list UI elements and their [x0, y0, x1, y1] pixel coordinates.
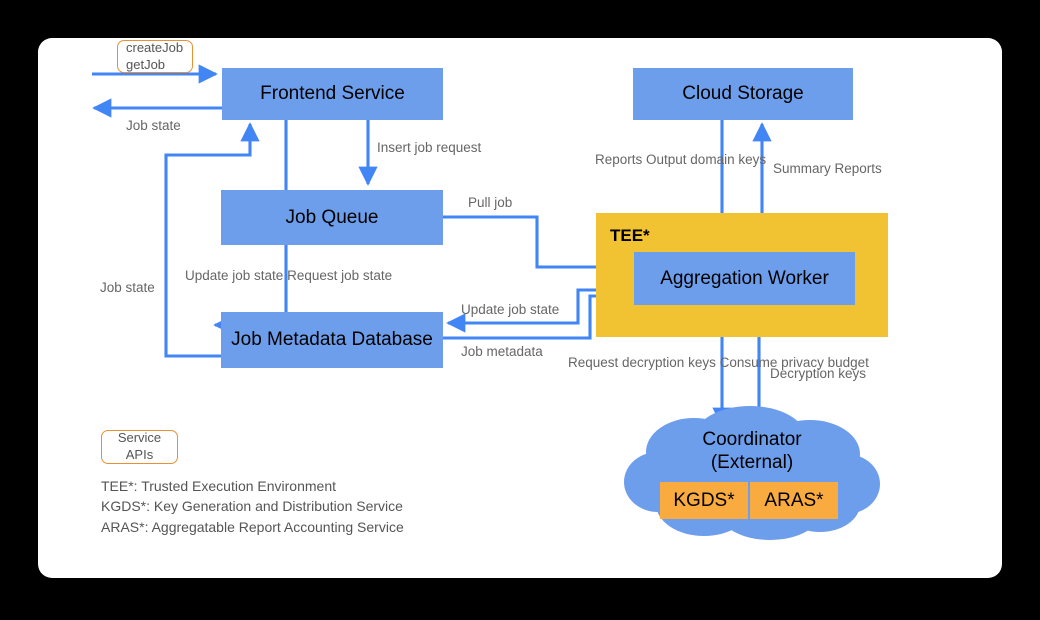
node-aras[interactable]: ARAS* — [750, 482, 838, 519]
label-job-state-out: Job state — [126, 117, 181, 135]
label-pull-job: Pull job — [468, 194, 512, 212]
legend-footnotes: TEE*: Trusted Execution Environment KGDS… — [101, 476, 404, 537]
tee-region-label: TEE* — [610, 226, 650, 246]
node-kgds-label: KGDS* — [673, 490, 734, 512]
label-update-request-job-state: Update job state Request job state — [185, 267, 392, 285]
node-aggregation-worker-label: Aggregation Worker — [660, 268, 829, 290]
label-summary-reports: Summary Reports — [773, 160, 882, 178]
label-job-state-left: Job state — [100, 279, 155, 297]
label-reports-output-domain-keys: Reports Output domain keys — [595, 151, 766, 169]
node-job-queue-label: Job Queue — [286, 207, 379, 229]
node-coordinator-label: Coordinator (External) — [622, 428, 882, 474]
label-update-job-state: Update job state — [461, 301, 559, 319]
label-insert-job-request: Insert job request — [377, 139, 481, 157]
label-job-metadata: Job metadata — [461, 343, 543, 361]
legend-service-apis-chip: Service APIs — [101, 430, 178, 464]
node-cloud-storage[interactable]: Cloud Storage — [633, 68, 853, 120]
node-cloud-storage-label: Cloud Storage — [682, 83, 803, 105]
label-create-get-job: createJob getJob — [117, 40, 193, 73]
node-frontend-service-label: Frontend Service — [260, 83, 405, 105]
node-kgds[interactable]: KGDS* — [660, 482, 748, 519]
node-aras-label: ARAS* — [764, 490, 823, 512]
diagram-root: TEE* Frontend Service Job Queue Job Meta… — [0, 0, 1040, 620]
node-job-metadata-database[interactable]: Job Metadata Database — [221, 312, 443, 368]
node-job-queue[interactable]: Job Queue — [221, 190, 443, 245]
label-decryption-keys: Decryption keys — [770, 365, 866, 383]
node-job-metadata-database-label: Job Metadata Database — [231, 329, 433, 351]
node-frontend-service[interactable]: Frontend Service — [222, 68, 443, 120]
node-aggregation-worker[interactable]: Aggregation Worker — [634, 252, 855, 305]
